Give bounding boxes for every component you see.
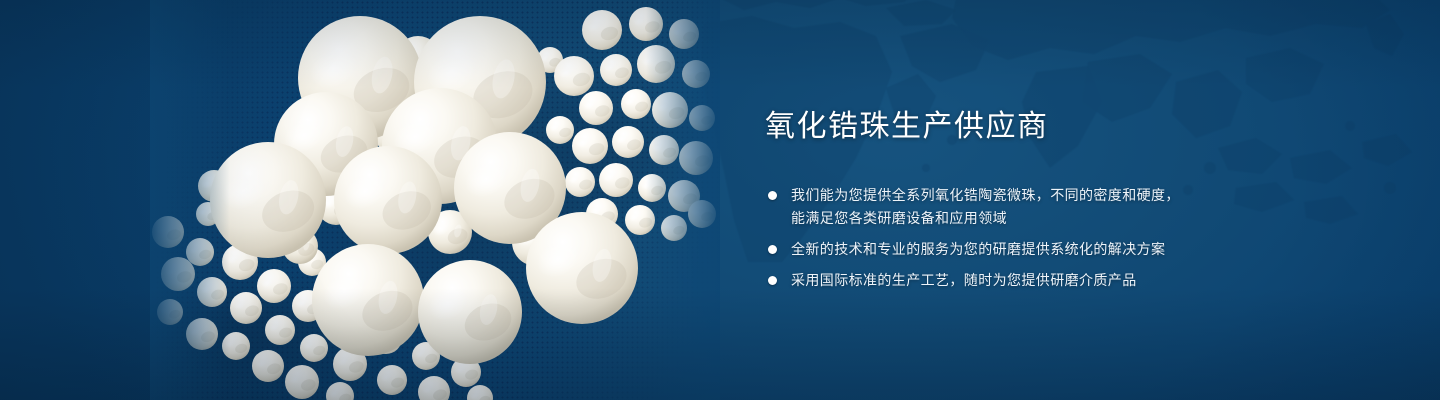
bullet-line: 全新的技术和专业的服务为您的研磨提供系统化的解决方案 [791,238,1285,261]
bullet-dot-icon [768,191,777,200]
photo-edge-blend [150,0,720,400]
list-item: 全新的技术和专业的服务为您的研磨提供系统化的解决方案 [765,238,1285,261]
banner-bullet-list: 我们能为您提供全系列氧化锆陶瓷微珠，不同的密度和硬度， 能满足您各类研磨设备和应… [765,184,1285,292]
bullet-line: 能满足您各类研磨设备和应用领域 [791,207,1285,230]
bullet-dot-icon [768,276,777,285]
zirconia-beads-photo [150,0,720,400]
bullet-dot-icon [768,245,777,254]
banner-copy: 氧化锆珠生产供应商 我们能为您提供全系列氧化锆陶瓷微珠，不同的密度和硬度， 能满… [765,108,1285,292]
list-item: 采用国际标准的生产工艺，随时为您提供研磨介质产品 [765,269,1285,292]
bullet-line: 采用国际标准的生产工艺，随时为您提供研磨介质产品 [791,269,1285,292]
bullet-line: 我们能为您提供全系列氧化锆陶瓷微珠，不同的密度和硬度， [791,184,1285,207]
list-item: 我们能为您提供全系列氧化锆陶瓷微珠，不同的密度和硬度， 能满足您各类研磨设备和应… [765,184,1285,230]
hero-banner: 氧化锆珠生产供应商 我们能为您提供全系列氧化锆陶瓷微珠，不同的密度和硬度， 能满… [0,0,1440,400]
banner-headline: 氧化锆珠生产供应商 [765,108,1285,146]
